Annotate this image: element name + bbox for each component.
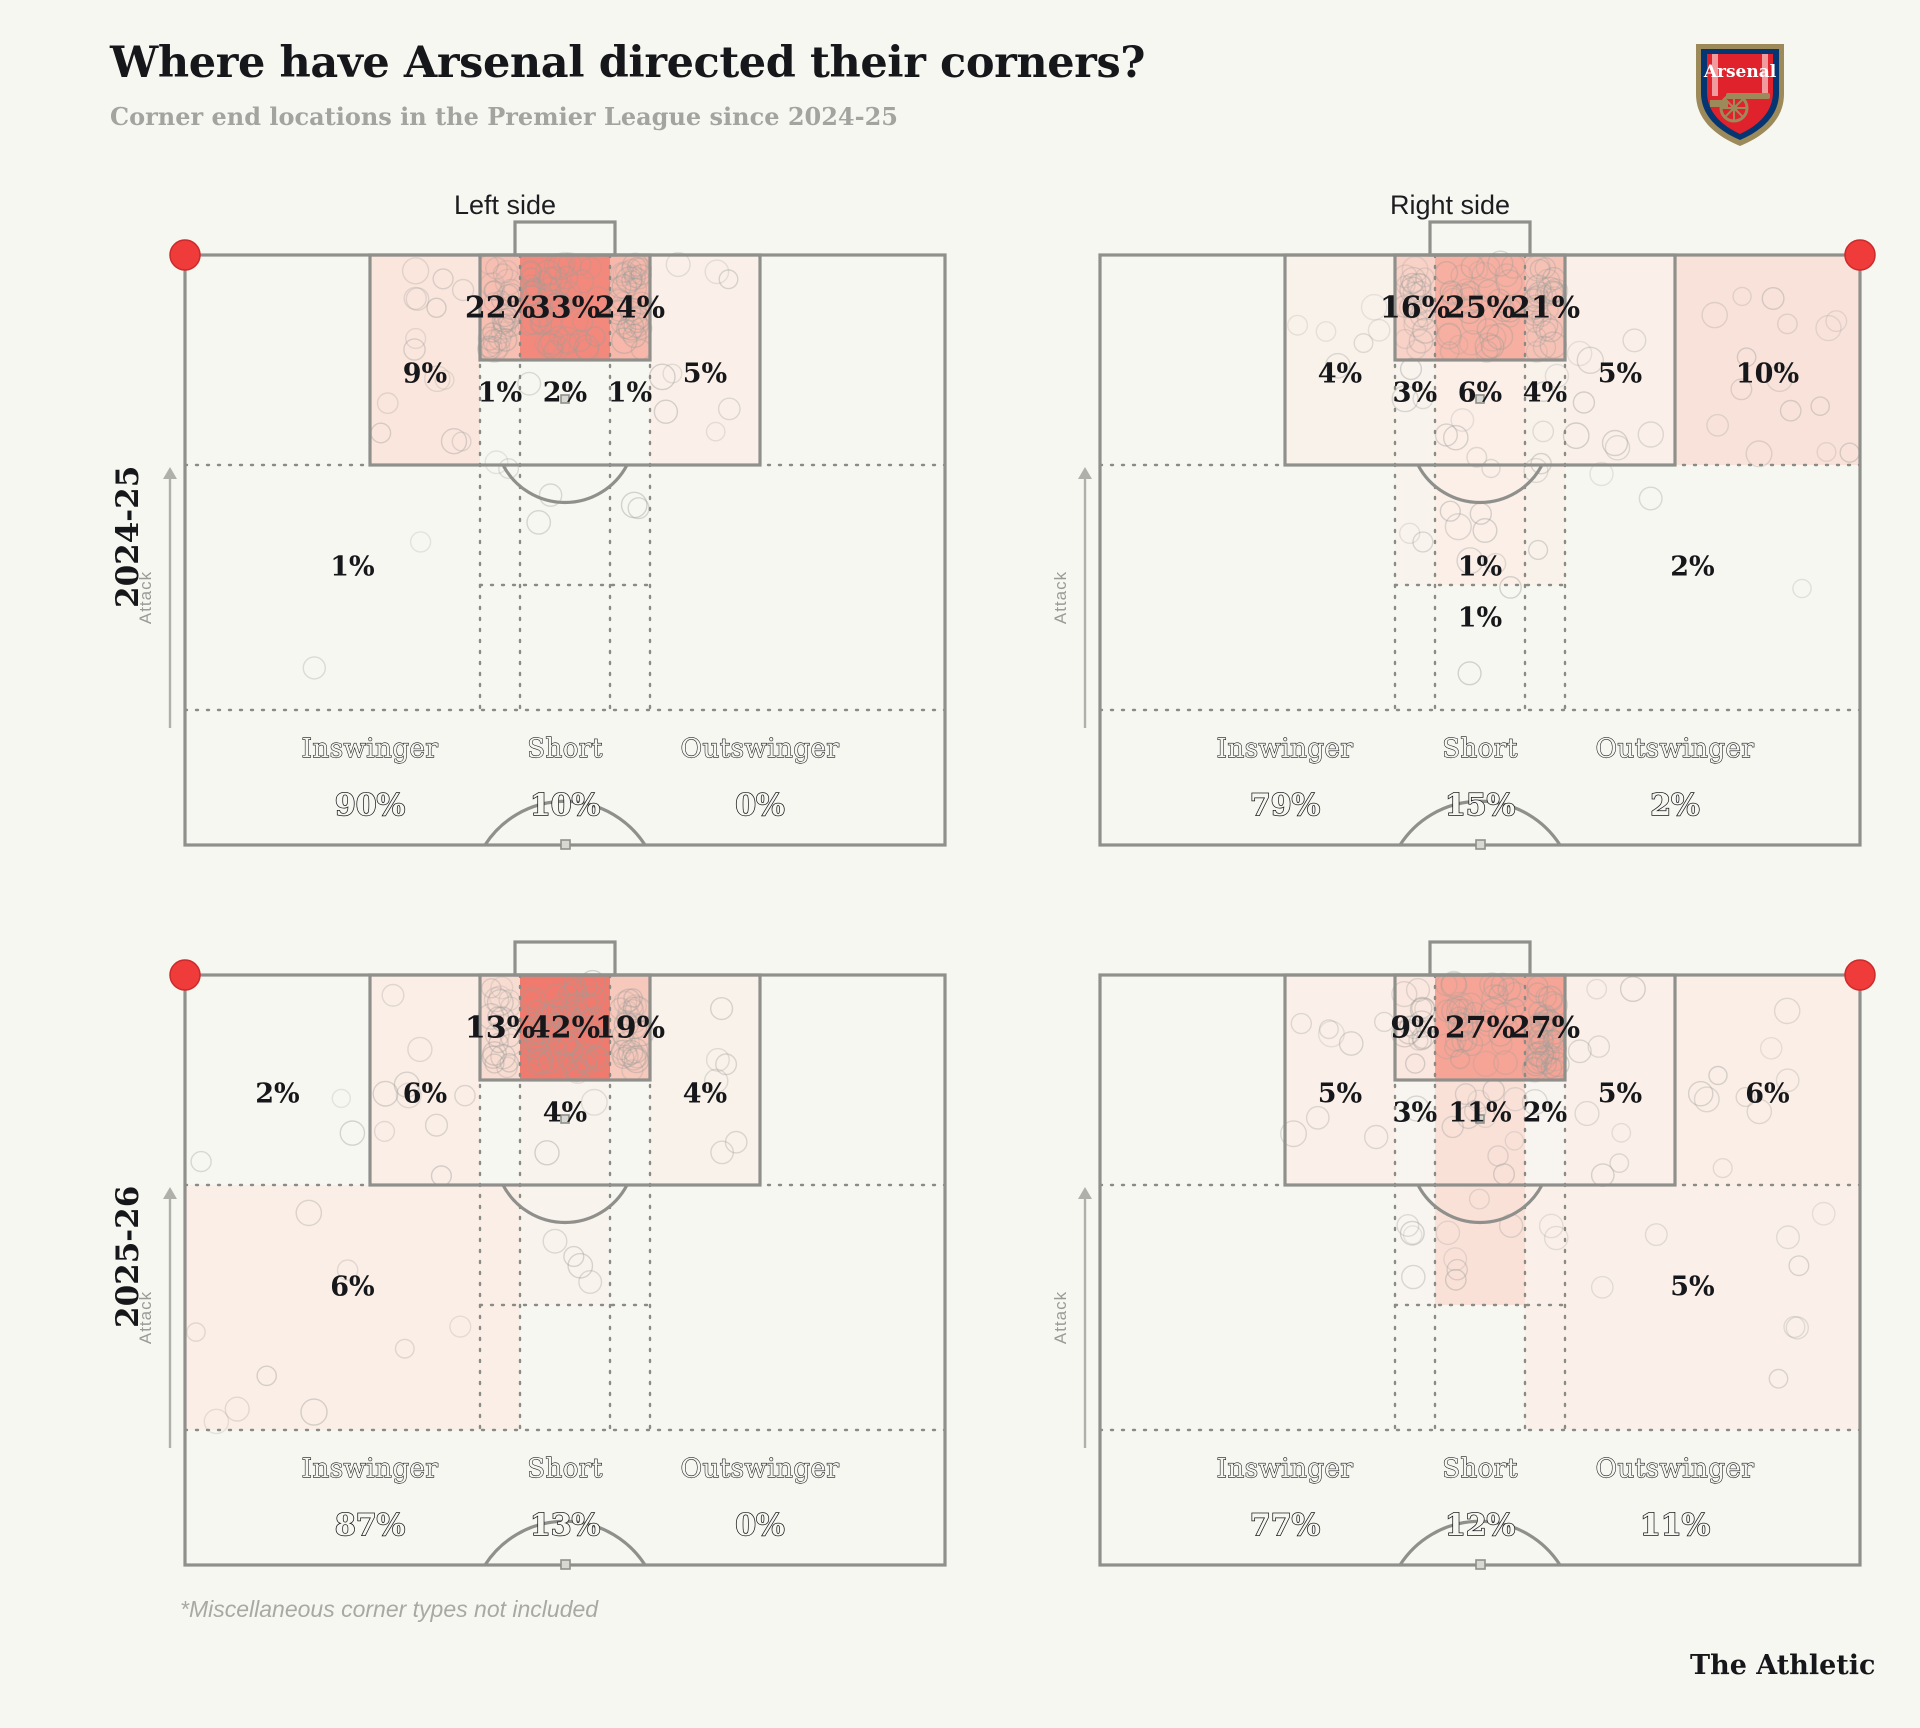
swing-value-outswinger: 2% <box>1650 788 1699 823</box>
zone-value-penalty-left: 3% <box>1393 378 1437 409</box>
zone-value-penalty-centre: 11% <box>1448 1098 1511 1129</box>
zone-value-six-yard-centre: 25% <box>1445 291 1515 326</box>
zone-value-penalty-left: 3% <box>1393 1098 1437 1129</box>
zone-value-penalty-centre: 4% <box>543 1098 587 1129</box>
swing-value-inswinger: 79% <box>1250 788 1320 823</box>
header: Where have Arsenal directed their corner… <box>110 38 1145 131</box>
swing-value-short: 13% <box>530 1508 600 1543</box>
page-title: Where have Arsenal directed their corner… <box>110 38 1145 88</box>
zone-value-wide-right-box: 5% <box>1598 359 1642 390</box>
swing-type-inswinger: Inswinger <box>302 734 439 764</box>
svg-text:Attack: Attack <box>136 1291 155 1344</box>
swing-type-outswinger: Outswinger <box>681 1454 840 1484</box>
zone-value-deep-left: 1% <box>330 551 374 582</box>
swing-legend: Inswinger79%Short15%Outswinger2% <box>1217 734 1755 823</box>
swing-type-inswinger: Inswinger <box>1217 1454 1354 1484</box>
brand-the-athletic: The Athletic <box>1690 1650 1875 1681</box>
swing-value-outswinger: 0% <box>735 1508 784 1543</box>
swing-legend: Inswinger77%Short12%Outswinger11% <box>1217 1454 1755 1543</box>
swing-value-inswinger: 90% <box>335 788 405 823</box>
zone-value-penalty-right: 4% <box>1523 378 1567 409</box>
zone-value-penalty-right: 1% <box>608 378 652 409</box>
zone-value-penalty-centre: 6% <box>1458 378 1502 409</box>
swing-type-short: Short <box>1442 734 1518 764</box>
corner-flag-marker <box>170 960 200 990</box>
zone-value-wide-right-box: 5% <box>683 359 727 390</box>
corner-flag-marker <box>170 240 200 270</box>
zone-value-wide-left-box: 4% <box>1318 359 1362 390</box>
column-heading-right: Right side <box>1325 190 1575 221</box>
swing-value-short: 12% <box>1445 1508 1515 1543</box>
zone-value-deep-left: 6% <box>330 1271 374 1302</box>
zone-value-six-yard-left: 16% <box>1380 291 1450 326</box>
zone-value-wide-left-box: 9% <box>403 359 447 390</box>
zone-value-deep-centre: 1% <box>1458 551 1502 582</box>
zone-value-six-yard-centre: 27% <box>1445 1011 1515 1046</box>
swing-type-inswinger: Inswinger <box>302 1454 439 1484</box>
swing-type-short: Short <box>527 734 603 764</box>
footnote: *Miscellaneous corner types not included <box>180 1596 598 1623</box>
zone-value-far-wide-right: 10% <box>1736 359 1799 390</box>
zone-value-penalty-right: 2% <box>1523 1098 1567 1129</box>
swing-value-short: 10% <box>530 788 600 823</box>
swing-type-inswinger: Inswinger <box>1217 734 1354 764</box>
zone-value-deep-right: 5% <box>1670 1271 1714 1302</box>
swing-type-short: Short <box>1442 1454 1518 1484</box>
pitch-panel-2025-26-left: 2%6%13%42%19%4%4%6%AttackInswinger87%Sho… <box>185 975 945 1565</box>
zone-value-wide-right-box: 4% <box>683 1079 727 1110</box>
swing-type-outswinger: Outswinger <box>681 734 840 764</box>
corner-flag-marker <box>1845 960 1875 990</box>
arsenal-crest-icon: Arsenal <box>1690 36 1790 148</box>
zone-value-six-yard-right: 27% <box>1510 1011 1580 1046</box>
zone-value-wide-right-box: 5% <box>1598 1079 1642 1110</box>
svg-text:Attack: Attack <box>1051 571 1070 624</box>
attack-arrow: Attack <box>1051 467 1092 728</box>
zone-value-six-yard-right: 21% <box>1510 291 1580 326</box>
swing-type-outswinger: Outswinger <box>1596 1454 1755 1484</box>
swing-value-outswinger: 0% <box>735 788 784 823</box>
zone-value-six-yard-left: 9% <box>1390 1011 1439 1046</box>
heat-cell-deep-left <box>185 1185 520 1430</box>
infographic-root: Where have Arsenal directed their corner… <box>0 0 1920 1728</box>
pitch-panel-2025-26-right: 5%9%27%27%3%11%2%5%6%5%AttackInswinger77… <box>1100 975 1860 1565</box>
swing-legend: Inswinger90%Short10%Outswinger0% <box>302 734 840 823</box>
zone-value-far-wide-right: 6% <box>1745 1079 1789 1110</box>
zone-value-six-yard-centre: 42% <box>530 1011 600 1046</box>
crest-wordmark: Arsenal <box>1703 62 1777 82</box>
corner-flag-marker <box>1845 240 1875 270</box>
swing-type-outswinger: Outswinger <box>1596 734 1755 764</box>
zone-value-six-yard-left: 22% <box>465 291 535 326</box>
zone-value-six-yard-right: 24% <box>595 291 665 326</box>
attack-arrow: Attack <box>1051 1187 1092 1448</box>
column-heading-left: Left side <box>380 190 630 221</box>
zone-value-edge-centre: 1% <box>1458 603 1502 634</box>
zone-value-six-yard-right: 19% <box>595 1011 665 1046</box>
pitch-panel-2024-25-right: 4%16%25%21%3%6%4%5%10%1%1%2%AttackInswin… <box>1100 255 1860 845</box>
svg-text:Attack: Attack <box>136 571 155 624</box>
page-subtitle: Corner end locations in the Premier Leag… <box>110 102 1145 131</box>
swing-type-short: Short <box>527 1454 603 1484</box>
swing-value-outswinger: 11% <box>1640 1508 1710 1543</box>
swing-legend: Inswinger87%Short13%Outswinger0% <box>302 1454 840 1543</box>
swing-value-short: 15% <box>1445 788 1515 823</box>
zone-value-six-yard-centre: 33% <box>530 291 600 326</box>
zone-value-penalty-centre: 2% <box>543 378 587 409</box>
zone-value-penalty-left: 1% <box>478 378 522 409</box>
swing-value-inswinger: 87% <box>335 1508 405 1543</box>
zone-value-far-wide-left: 2% <box>255 1079 299 1110</box>
zone-value-wide-left-box: 5% <box>1318 1079 1362 1110</box>
svg-text:Attack: Attack <box>1051 1291 1070 1344</box>
heat-cell-deep-right <box>1525 1185 1860 1430</box>
zone-value-deep-right: 2% <box>1670 551 1714 582</box>
zone-value-six-yard-left: 13% <box>465 1011 535 1046</box>
pitch-panel-2024-25-left: 9%22%33%24%1%2%1%5%1%AttackInswinger90%S… <box>185 255 945 845</box>
zone-value-wide-left-box: 6% <box>403 1079 447 1110</box>
swing-value-inswinger: 77% <box>1250 1508 1320 1543</box>
